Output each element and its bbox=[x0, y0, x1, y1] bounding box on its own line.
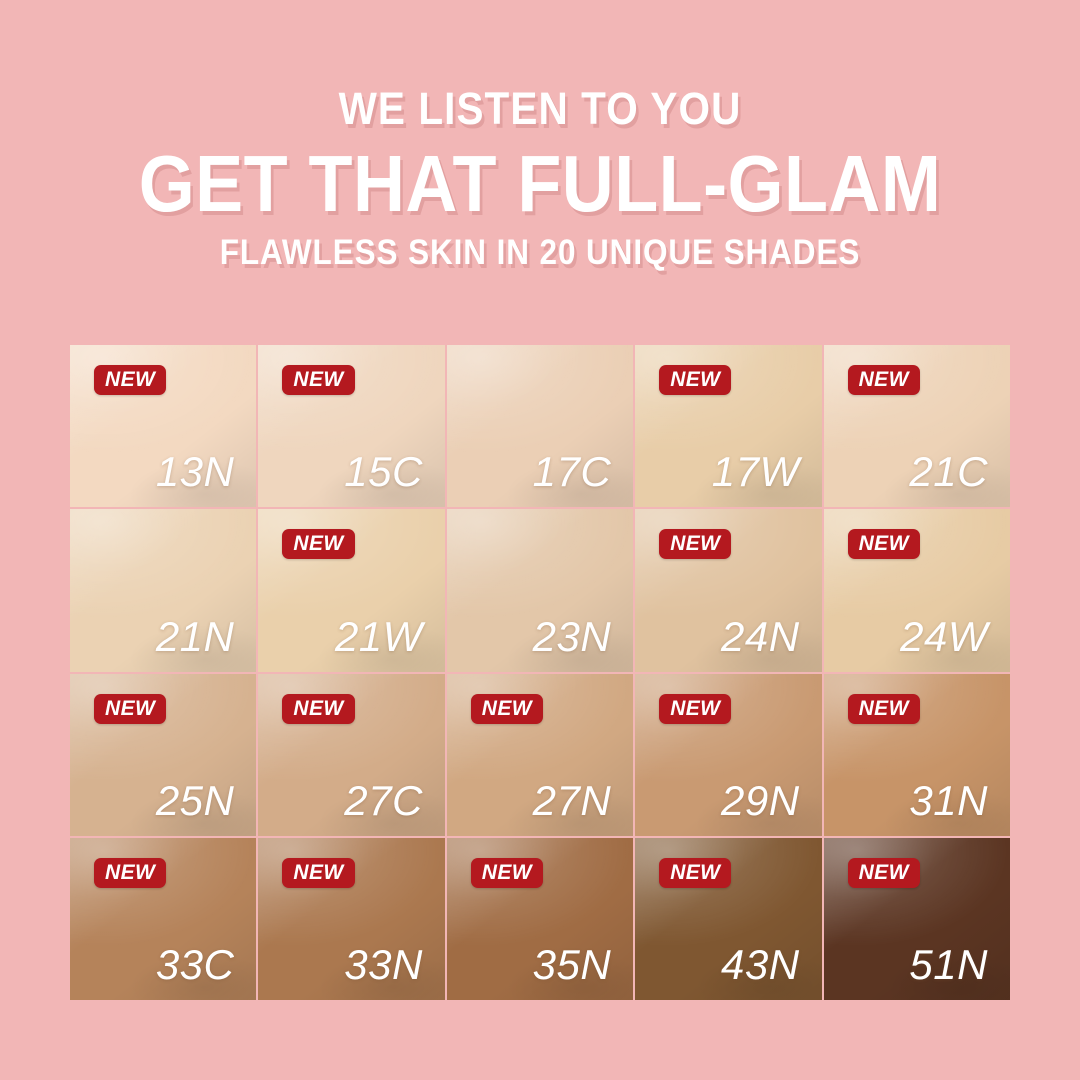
new-badge: NEW bbox=[659, 365, 731, 395]
shade-label: 15C bbox=[344, 451, 423, 493]
shade-label: 33N bbox=[344, 944, 423, 986]
shade-swatch[interactable]: NEW27N bbox=[447, 674, 633, 836]
shade-swatch[interactable]: NEW33N bbox=[258, 838, 444, 1000]
shade-label: 27C bbox=[344, 780, 423, 822]
new-badge: NEW bbox=[94, 365, 166, 395]
shade-label: 17C bbox=[533, 451, 612, 493]
shade-label: 21W bbox=[335, 616, 423, 658]
shade-label: 24W bbox=[900, 616, 988, 658]
shade-swatch[interactable]: NEW43N bbox=[635, 838, 821, 1000]
shade-label: 43N bbox=[721, 944, 800, 986]
shade-label: 13N bbox=[156, 451, 235, 493]
new-badge: NEW bbox=[471, 858, 543, 888]
new-badge: NEW bbox=[848, 365, 920, 395]
shade-swatch[interactable]: 21N bbox=[70, 509, 256, 671]
new-badge: NEW bbox=[848, 529, 920, 559]
new-badge: NEW bbox=[848, 858, 920, 888]
shade-swatch[interactable]: NEW29N bbox=[635, 674, 821, 836]
new-badge: NEW bbox=[282, 694, 354, 724]
shade-swatch[interactable]: NEW24W bbox=[824, 509, 1010, 671]
shade-label: 24N bbox=[721, 616, 800, 658]
new-badge: NEW bbox=[471, 694, 543, 724]
shade-swatch[interactable]: NEW24N bbox=[635, 509, 821, 671]
shade-swatch[interactable]: NEW51N bbox=[824, 838, 1010, 1000]
shade-label: 21C bbox=[909, 451, 988, 493]
shade-label: 31N bbox=[909, 780, 988, 822]
shade-label: 25N bbox=[156, 780, 235, 822]
shade-swatch[interactable]: 17C bbox=[447, 345, 633, 507]
new-badge: NEW bbox=[94, 694, 166, 724]
shade-range-promo-graphic: { "background_color": "#f2b6b6", "headli… bbox=[0, 0, 1080, 1080]
new-badge: NEW bbox=[282, 529, 354, 559]
shade-swatch[interactable]: NEW35N bbox=[447, 838, 633, 1000]
shade-label: 29N bbox=[721, 780, 800, 822]
new-badge: NEW bbox=[659, 529, 731, 559]
shade-label: 17W bbox=[712, 451, 800, 493]
shade-swatch[interactable]: NEW31N bbox=[824, 674, 1010, 836]
new-badge: NEW bbox=[282, 365, 354, 395]
shade-swatch[interactable]: NEW21C bbox=[824, 345, 1010, 507]
new-badge: NEW bbox=[848, 694, 920, 724]
shade-label: 35N bbox=[533, 944, 612, 986]
headline-eyebrow: WE LISTEN TO YOU bbox=[54, 86, 1026, 133]
shade-swatch[interactable]: NEW21W bbox=[258, 509, 444, 671]
new-badge: NEW bbox=[659, 858, 731, 888]
shade-swatch[interactable]: 23N bbox=[447, 509, 633, 671]
shade-swatch[interactable]: NEW27C bbox=[258, 674, 444, 836]
shade-label: 21N bbox=[156, 616, 235, 658]
new-badge: NEW bbox=[94, 858, 166, 888]
headline-main: GET THAT FULL-GLAM bbox=[54, 142, 1026, 225]
shade-swatch[interactable]: NEW13N bbox=[70, 345, 256, 507]
shade-swatch-grid: NEW13NNEW15C17CNEW17WNEW21C21NNEW21W23NN… bbox=[70, 345, 1010, 1000]
new-badge: NEW bbox=[659, 694, 731, 724]
shade-swatch[interactable]: NEW15C bbox=[258, 345, 444, 507]
shade-swatch[interactable]: NEW17W bbox=[635, 345, 821, 507]
headline-block: WE LISTEN TO YOU GET THAT FULL-GLAM FLAW… bbox=[0, 86, 1080, 271]
shade-label: 27N bbox=[533, 780, 612, 822]
headline-subtitle: FLAWLESS SKIN IN 20 UNIQUE SHADES bbox=[54, 235, 1026, 271]
shade-swatch[interactable]: NEW33C bbox=[70, 838, 256, 1000]
shade-label: 23N bbox=[533, 616, 612, 658]
new-badge: NEW bbox=[282, 858, 354, 888]
shade-label: 51N bbox=[909, 944, 988, 986]
shade-label: 33C bbox=[156, 944, 235, 986]
shade-swatch[interactable]: NEW25N bbox=[70, 674, 256, 836]
